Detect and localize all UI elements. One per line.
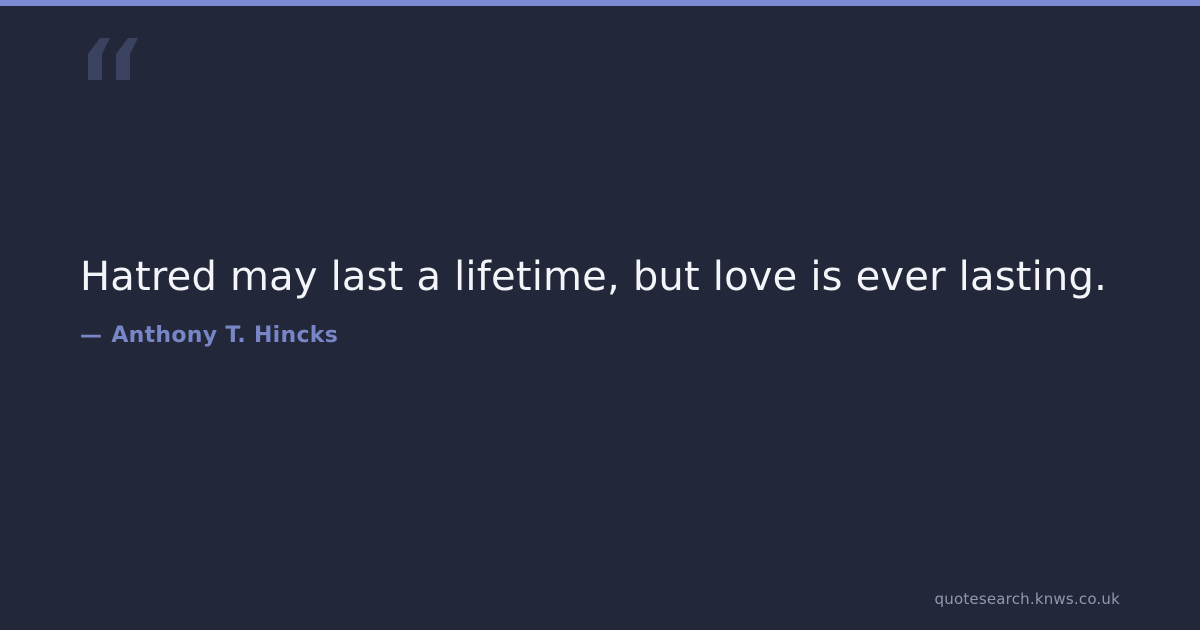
double-quote-open-icon (80, 38, 144, 80)
quote-text: Hatred may last a lifetime, but love is … (80, 252, 1120, 303)
top-accent-bar (0, 0, 1200, 6)
attribution-dash: — (80, 323, 102, 348)
quote-block: Hatred may last a lifetime, but love is … (80, 252, 1120, 348)
source-url: quotesearch.knws.co.uk (935, 590, 1120, 608)
quote-attribution: — Anthony T. Hincks (80, 323, 1120, 348)
quote-card: Hatred may last a lifetime, but love is … (0, 0, 1200, 630)
author-name: Anthony T. Hincks (111, 323, 338, 348)
